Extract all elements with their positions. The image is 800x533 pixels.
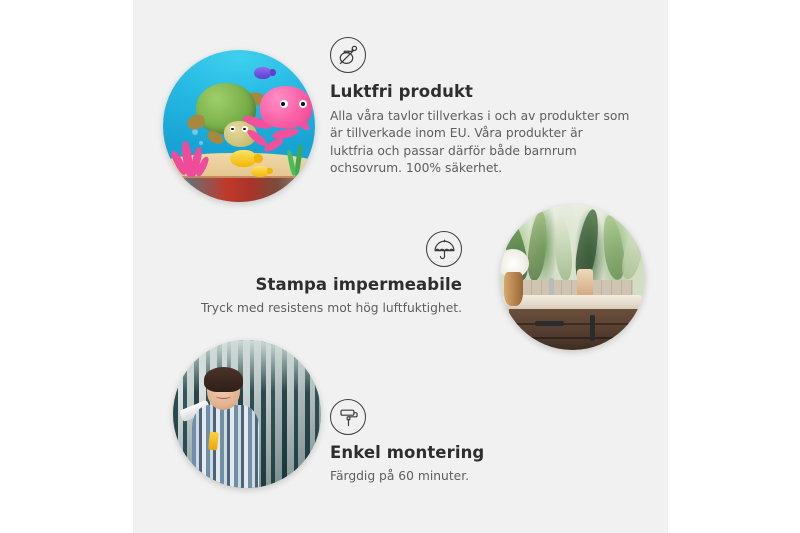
feature-title: Luktfri produkt: [330, 82, 630, 103]
vanity-seam: [509, 323, 640, 325]
feature-body: Alla våra tavlor tillverkas i och av pro…: [330, 108, 630, 178]
vase: [504, 272, 523, 307]
screenshot-root: Luktfri produkt Alla våra tavlor tillver…: [0, 0, 800, 533]
fish-icon: [230, 150, 256, 167]
wooden-vanity: [509, 309, 640, 350]
vanity-seam: [509, 337, 640, 339]
worker-hair: [204, 367, 242, 392]
turtle-eye: [230, 126, 236, 132]
octopus-eye: [280, 100, 288, 108]
umbrella-icon: [426, 231, 462, 267]
feature-odour-free: Luktfri produkt Alla våra tavlor tillver…: [330, 37, 630, 177]
yellow-tool: [208, 431, 219, 450]
underwater-cartoon-photo: [163, 50, 315, 202]
feature-waterproof: Stampa impermeabile Tryck med resistens …: [200, 231, 462, 317]
feature-body: Färgdig på 60 minuter.: [330, 468, 600, 485]
drawer-handle: [590, 315, 595, 341]
decorator-forest-wallpaper-photo: [173, 340, 321, 488]
fish-icon: [254, 67, 271, 79]
no-odour-perfume-bottle-icon: [330, 37, 366, 73]
feature-easy-assembly: Enkel montering Färgdig på 60 minuter.: [330, 399, 600, 485]
bubble-icon: [192, 129, 198, 135]
feature-title: Enkel montering: [330, 443, 600, 464]
drawer-handle: [535, 321, 564, 326]
bathroom-tropical-wallpaper-photo: [500, 205, 645, 350]
feature-body: Tryck med resistens mot hög luftfuktighe…: [200, 300, 462, 317]
worker-plaid-shirt: [192, 405, 259, 488]
fish-icon: [251, 166, 268, 177]
paint-roller-icon: [330, 399, 366, 435]
feature-title: Stampa impermeabile: [200, 275, 462, 296]
photo-bottom-strip: [163, 178, 315, 202]
